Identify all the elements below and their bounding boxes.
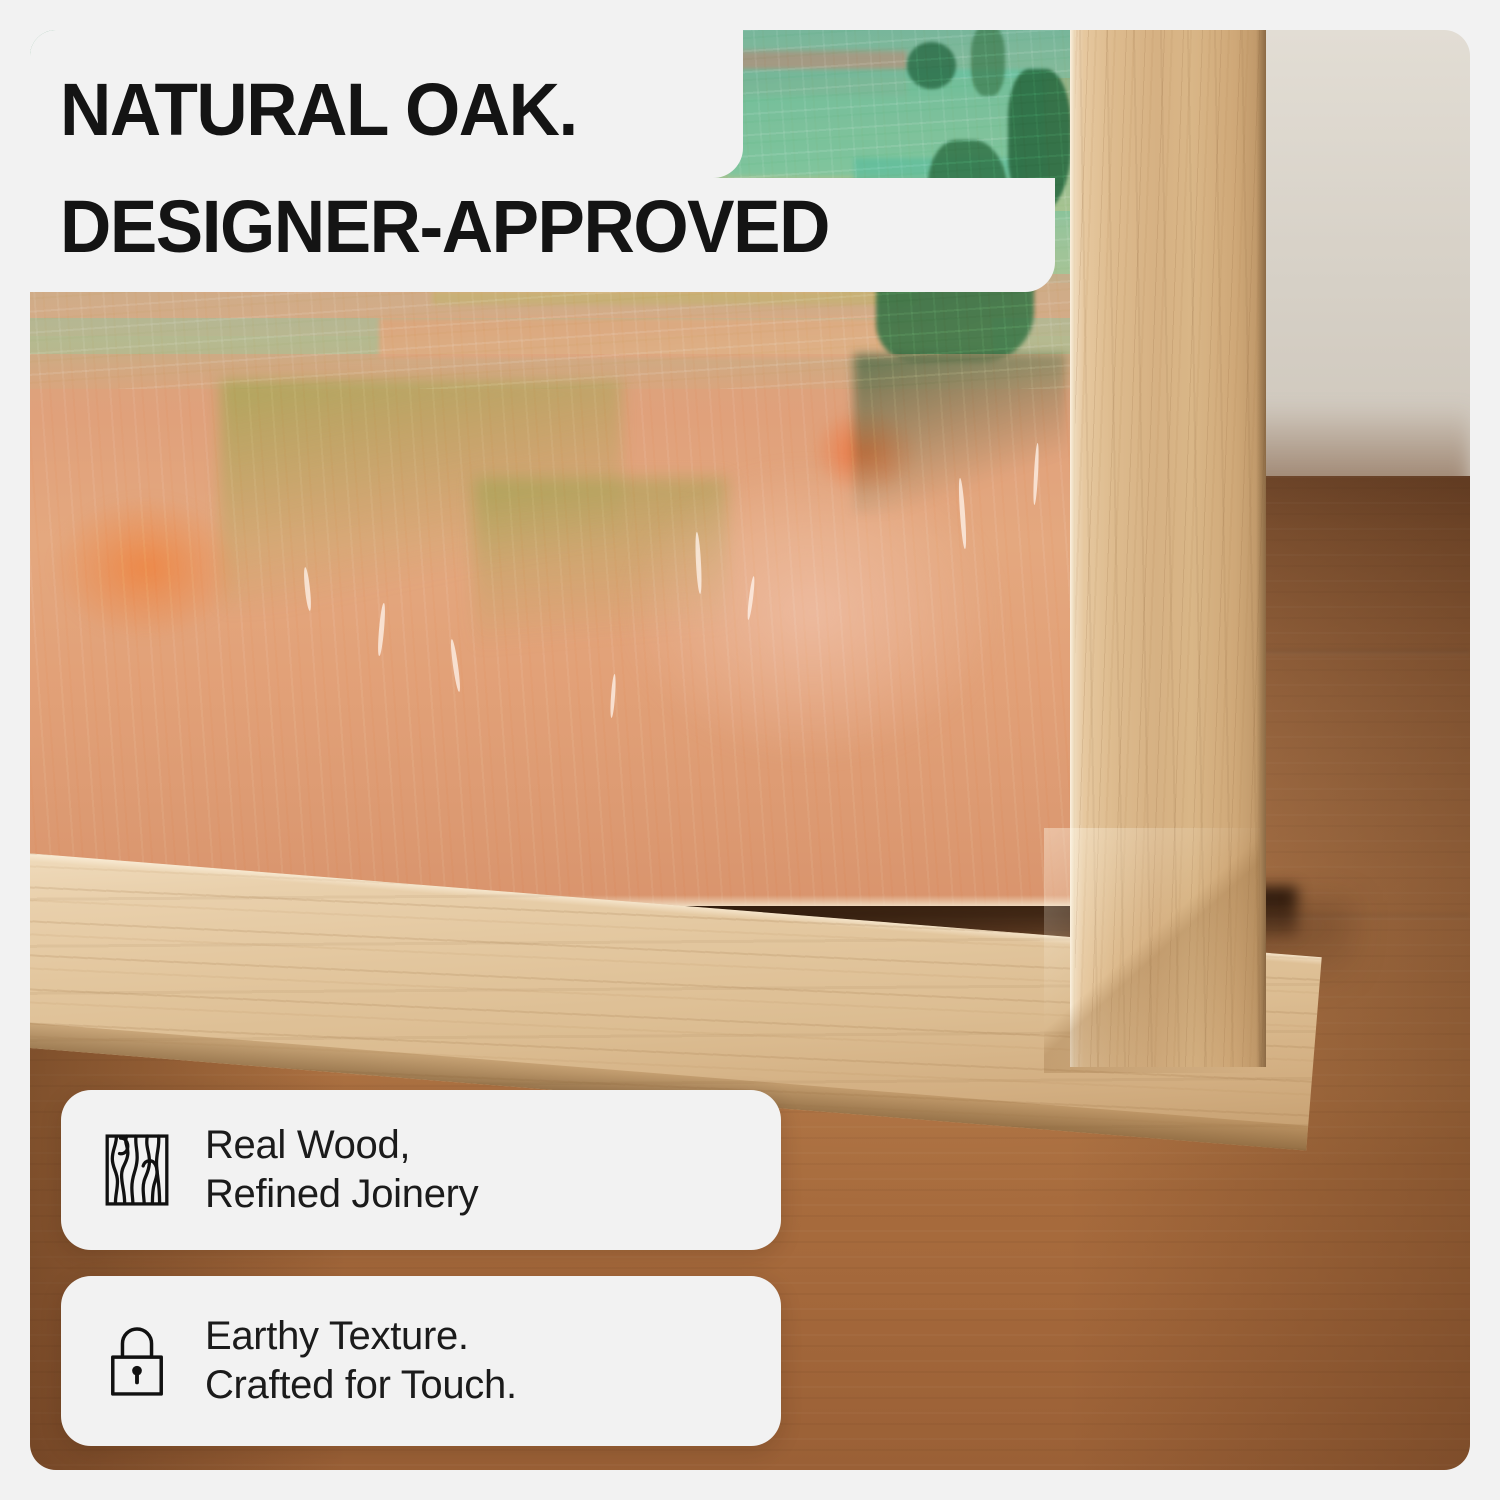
headline-banner-line1: NATURAL OAK. bbox=[30, 30, 743, 178]
feature-badge-text: Earthy Texture. Crafted for Touch. bbox=[205, 1312, 517, 1410]
feature-badge-real-wood[interactable]: Real Wood, Refined Joinery bbox=[61, 1090, 781, 1250]
product-marketing-image: NATURAL OAK. DESIGNER-APPROVED Re bbox=[0, 0, 1500, 1500]
headline-line2: DESIGNER-APPROVED bbox=[60, 190, 829, 264]
feature-line-2: Crafted for Touch. bbox=[205, 1361, 517, 1410]
product-photo: NATURAL OAK. DESIGNER-APPROVED Re bbox=[30, 30, 1470, 1470]
headline-banner-line2: DESIGNER-APPROVED bbox=[30, 178, 1055, 292]
feature-badge-earthy-texture[interactable]: Earthy Texture. Crafted for Touch. bbox=[61, 1276, 781, 1446]
feature-line-2: Refined Joinery bbox=[205, 1170, 478, 1219]
feature-badge-text: Real Wood, Refined Joinery bbox=[205, 1121, 478, 1219]
frame-miter-joint bbox=[1044, 828, 1260, 1073]
headline-line1: NATURAL OAK. bbox=[60, 73, 577, 147]
wood-grain-icon bbox=[95, 1128, 179, 1212]
feature-line-1: Earthy Texture. bbox=[205, 1312, 517, 1361]
padlock-icon bbox=[95, 1319, 179, 1403]
feature-line-1: Real Wood, bbox=[205, 1121, 478, 1170]
